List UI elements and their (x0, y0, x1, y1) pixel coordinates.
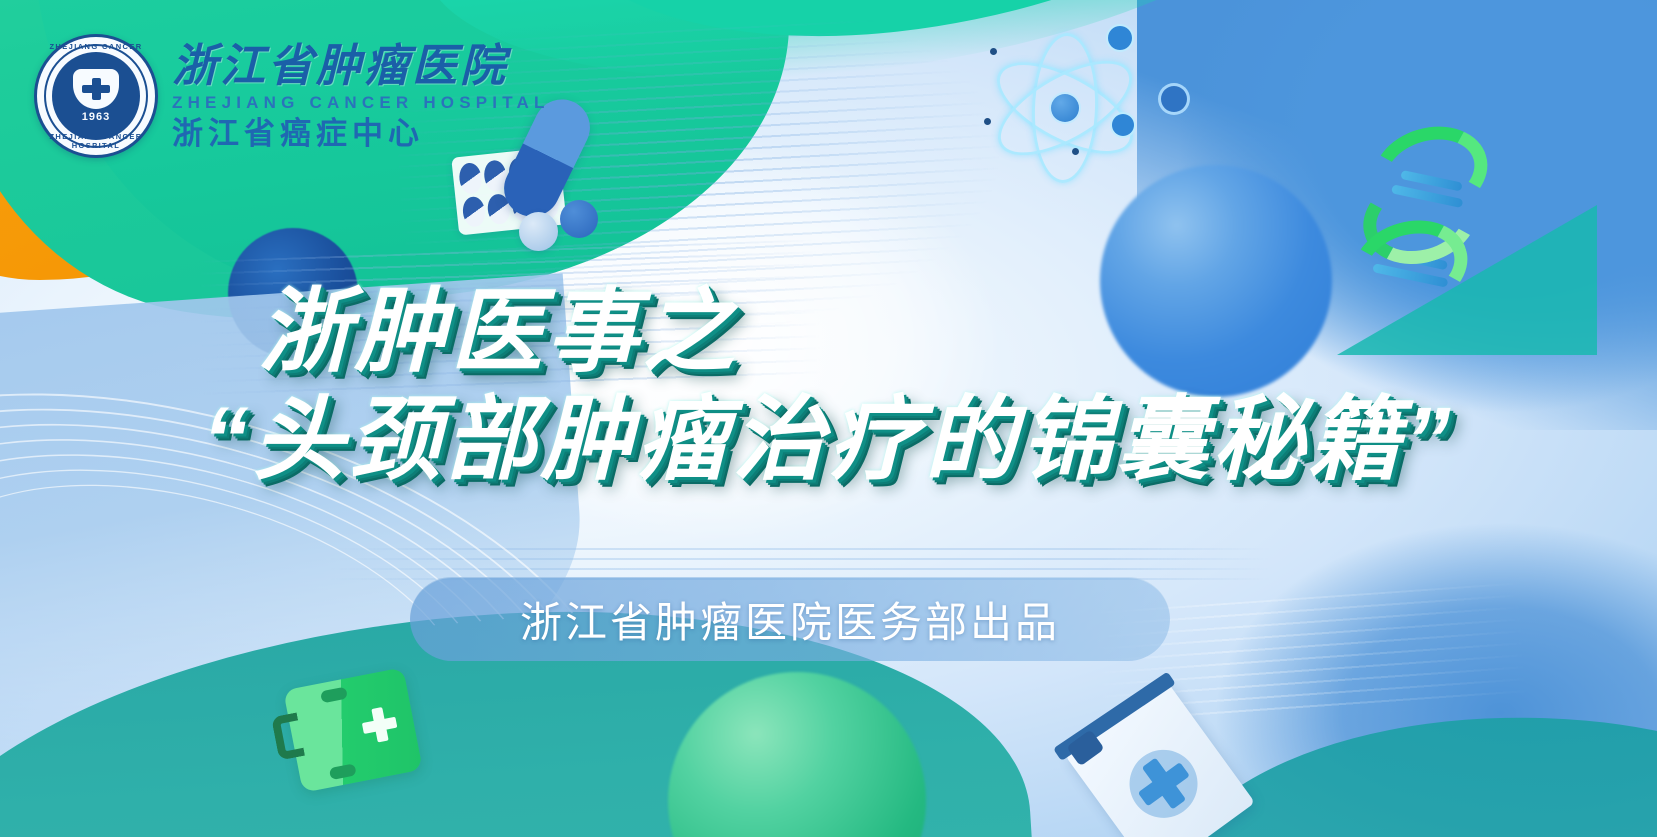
seal-arc-top: ZHEJIANG CANCER (37, 42, 155, 51)
video-cover-slide: ZHEJIANG CANCER ZHEJIANG CANCER HOSPITAL… (0, 0, 1657, 837)
subtitle-pill: 浙江省肿瘤医院医务部出品 (410, 577, 1170, 661)
seal-inner-disc: 1963 (52, 52, 140, 140)
atom-icon (960, 18, 1170, 198)
tablet-icon (519, 212, 558, 251)
hospital-seal-logo: ZHEJIANG CANCER ZHEJIANG CANCER HOSPITAL… (34, 34, 158, 158)
seal-shield-icon (73, 69, 119, 109)
bottom-right-wash (997, 497, 1657, 837)
title-block: 浙肿医事之 “头颈部肿瘤治疗的锦囊秘籍” (0, 286, 1657, 486)
hospital-name-cn: 浙江省肿瘤医院 (172, 44, 550, 89)
top-teal-streak-2 (544, 0, 1296, 68)
first-aid-kit-icon (283, 667, 423, 792)
medical-clipboard-icon (1065, 681, 1255, 837)
seal-year: 1963 (82, 111, 110, 123)
hospital-brand-lockup: ZHEJIANG CANCER ZHEJIANG CANCER HOSPITAL… (34, 34, 550, 158)
subtitle-text: 浙江省肿瘤医院医务部出品 (520, 589, 1060, 650)
title-line-2: “头颈部肿瘤治疗的锦囊秘籍” (0, 394, 1657, 486)
brand-text-block: 浙江省肿瘤医院 ZHEJIANG CANCER HOSPITAL 浙江省癌症中心 (172, 44, 550, 149)
pill-blister-icon (451, 147, 567, 236)
small-navy-dot (1161, 86, 1187, 112)
hospital-name-en: ZHEJIANG CANCER HOSPITAL (172, 94, 550, 111)
bottom-right-teal-wave (1144, 685, 1657, 837)
tablet-icon-2 (560, 200, 598, 238)
green-sphere (668, 672, 926, 837)
title-line-1: 浙肿医事之 (0, 286, 1657, 378)
hospital-name-sub-cn: 浙江省癌症中心 (172, 118, 550, 149)
